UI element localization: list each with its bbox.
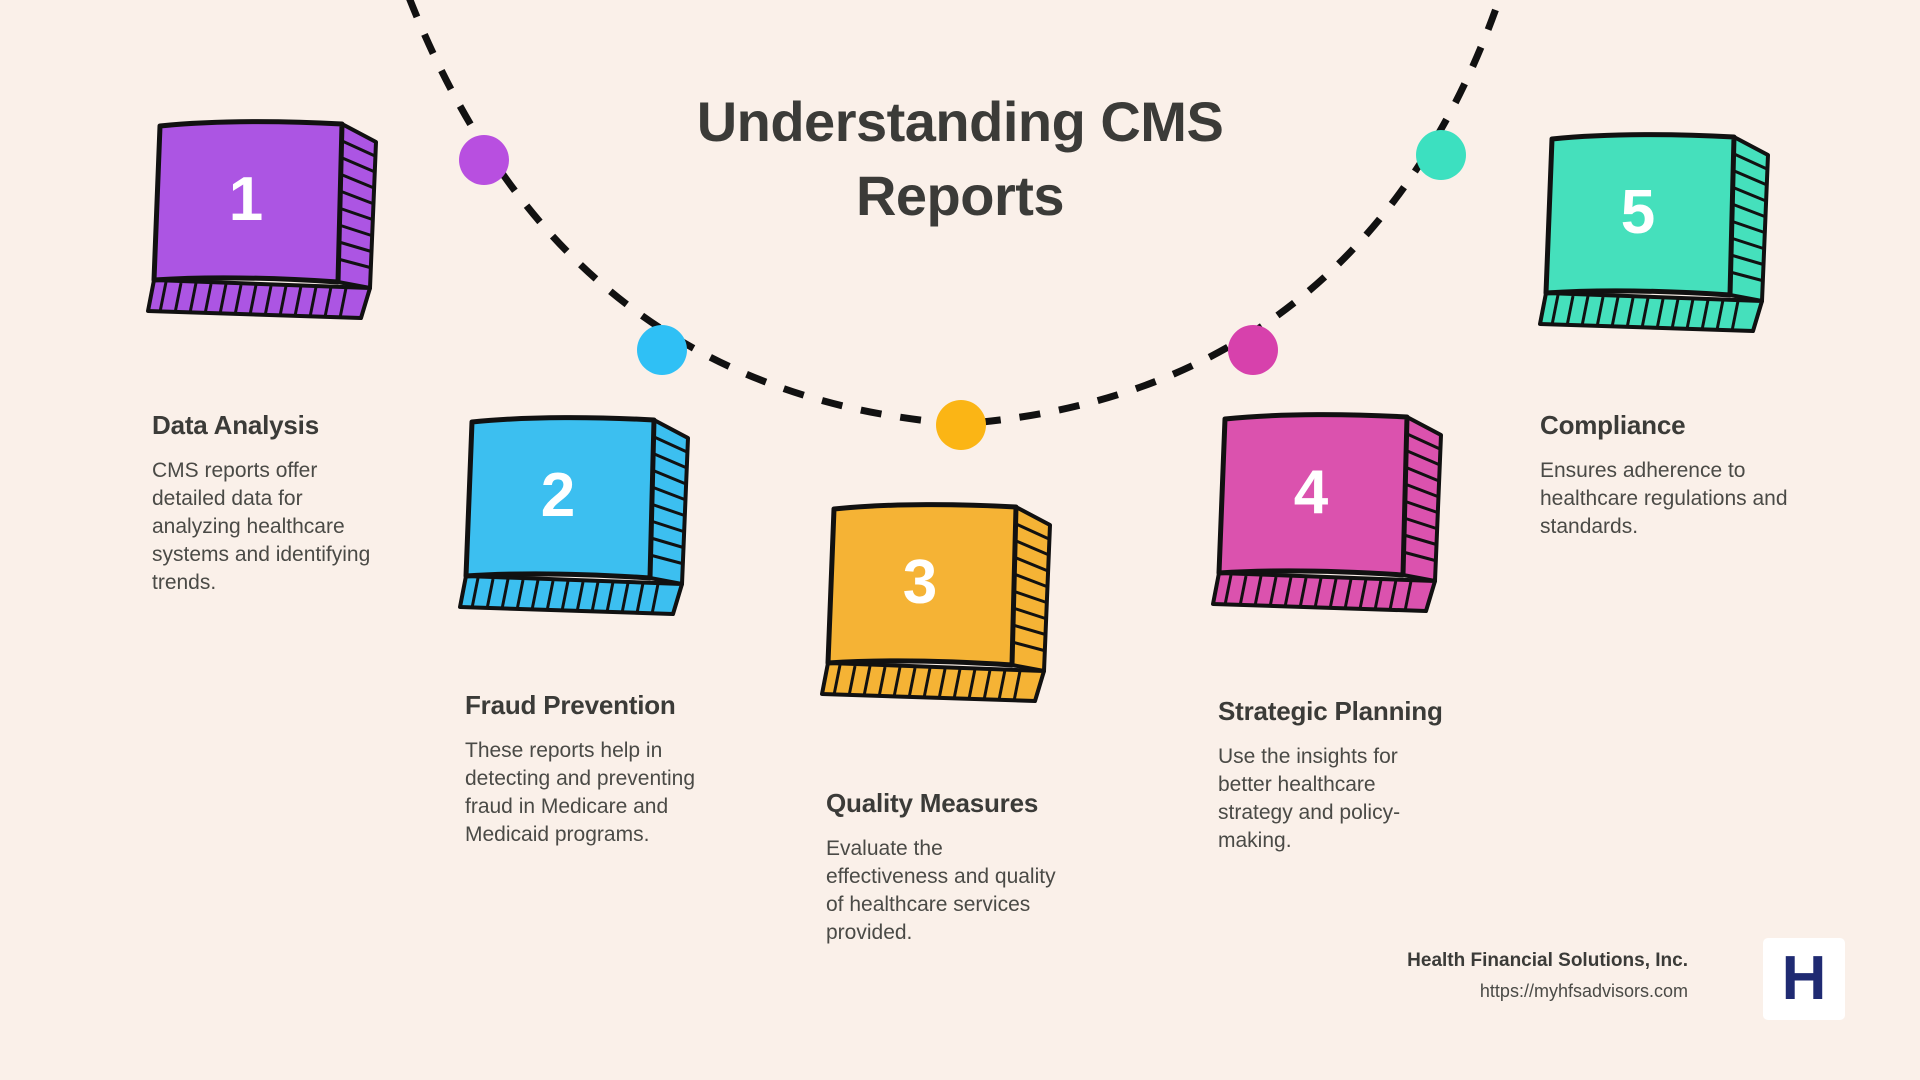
step-body-2: These reports help in detecting and prev…: [465, 737, 723, 849]
company-logo: H: [1763, 938, 1845, 1020]
step-heading-2: Fraud Prevention: [465, 690, 723, 721]
step-heading-5: Compliance: [1540, 410, 1790, 441]
step-card-1[interactable]: 1: [148, 112, 403, 327]
step-text-2: Fraud Prevention These reports help in d…: [465, 690, 723, 849]
connector-dot-1: [459, 135, 509, 185]
logo-letter-h-icon: H: [1782, 948, 1827, 1010]
company-name: Health Financial Solutions, Inc.: [1407, 950, 1688, 972]
page-title-line-1: Understanding CMS: [560, 85, 1360, 159]
connector-dot-4: [1228, 325, 1278, 375]
connector-dot-3: [936, 400, 986, 450]
infographic-canvas: Understanding CMS Reports: [0, 0, 1920, 1080]
page-title: Understanding CMS Reports: [560, 85, 1360, 233]
step-heading-1: Data Analysis: [152, 410, 390, 441]
step-text-4: Strategic Planning Use the insights for …: [1218, 696, 1456, 855]
step-heading-3: Quality Measures: [826, 788, 1066, 819]
step-body-4: Use the insights for better healthcare s…: [1218, 743, 1456, 855]
step-body-1: CMS reports offer detailed data for anal…: [152, 457, 390, 597]
step-heading-4: Strategic Planning: [1218, 696, 1456, 727]
step-body-5: Ensures adherence to healthcare regulati…: [1540, 457, 1790, 541]
step-body-3: Evaluate the effectiveness and quality o…: [826, 835, 1066, 947]
step-card-3[interactable]: 3: [822, 495, 1077, 710]
connector-dot-2: [637, 325, 687, 375]
page-title-line-2: Reports: [560, 159, 1360, 233]
step-card-5[interactable]: 5: [1540, 125, 1795, 340]
connector-dot-5: [1416, 130, 1466, 180]
step-text-3: Quality Measures Evaluate the effectiven…: [826, 788, 1066, 947]
step-text-1: Data Analysis CMS reports offer detailed…: [152, 410, 390, 597]
step-card-2[interactable]: 2: [460, 408, 715, 623]
footer-branding: Health Financial Solutions, Inc. https:/…: [1407, 950, 1688, 1002]
step-text-5: Compliance Ensures adherence to healthca…: [1540, 410, 1790, 541]
step-card-4[interactable]: 4: [1213, 405, 1468, 620]
company-url[interactable]: https://myhfsadvisors.com: [1407, 981, 1688, 1002]
